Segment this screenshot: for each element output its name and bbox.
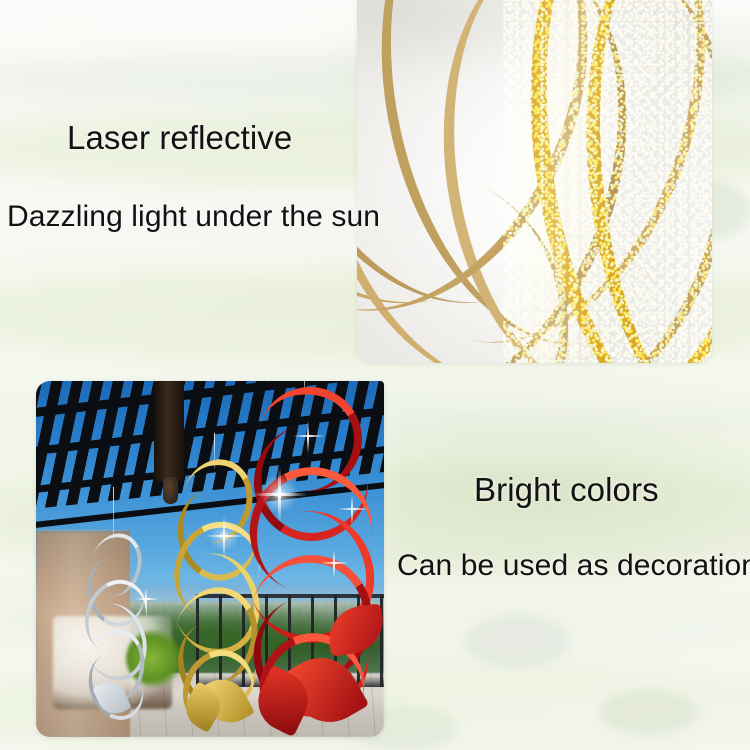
feature-1-heading: Laser reflective: [67, 119, 292, 157]
feature-2-heading: Bright colors: [474, 471, 659, 509]
product-collage: Laser reflective Dazzling light under th…: [0, 0, 750, 750]
feature-2-subtext: Can be used as decorations: [397, 549, 750, 583]
pergola-lamp: [163, 477, 178, 504]
panel-gold-closeup: [357, 0, 712, 363]
pergola-post: [154, 381, 184, 481]
panel-terrace-scene: [36, 381, 384, 737]
feature-1-subtext: Dazzling light under the sun: [7, 200, 380, 234]
ribbon-sheen: [513, 0, 605, 363]
